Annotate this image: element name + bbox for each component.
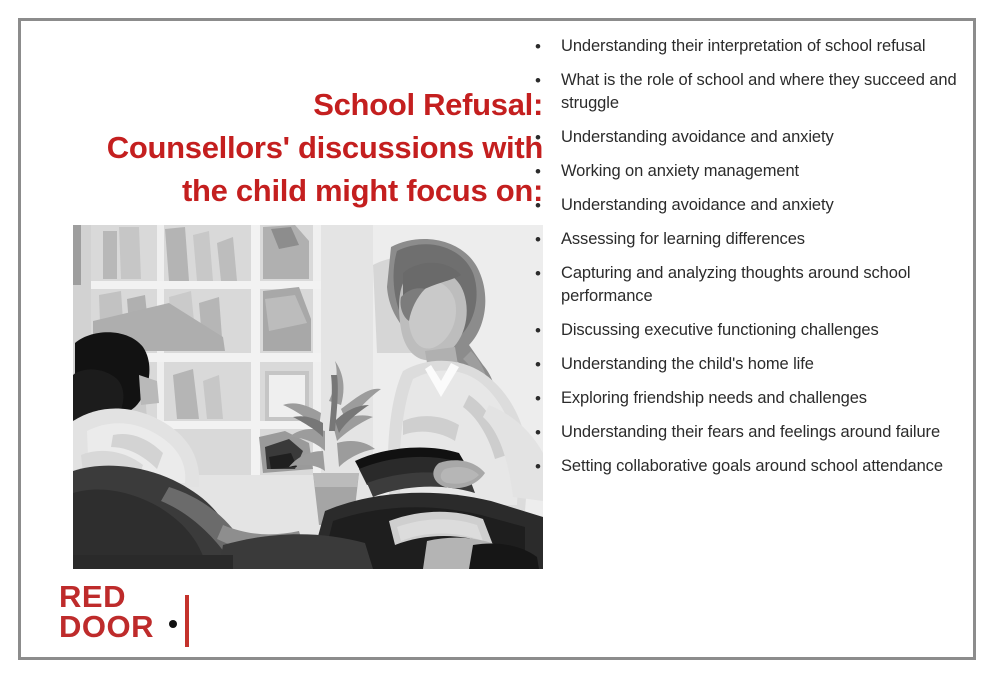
list-item: • Understanding their interpretation of … bbox=[529, 35, 969, 58]
list-item-label: Capturing and analyzing thoughts around … bbox=[561, 262, 969, 308]
list-item-label: Exploring friendship needs and challenge… bbox=[561, 387, 969, 410]
bullet-icon: • bbox=[529, 160, 561, 183]
red-door-logo: RED DOOR bbox=[59, 581, 299, 651]
bullet-icon: • bbox=[529, 228, 561, 251]
list-item: • Discussing executive functioning chall… bbox=[529, 319, 969, 342]
list-item-label: Understanding avoidance and anxiety bbox=[561, 126, 969, 149]
list-item-label: Discussing executive functioning challen… bbox=[561, 319, 969, 342]
title-line-2: Counsellors' discussions with bbox=[43, 126, 543, 169]
logo-door-bar-icon bbox=[185, 595, 189, 647]
focus-topics-list: • Understanding their interpretation of … bbox=[529, 29, 969, 657]
counselling-session-photo bbox=[73, 225, 543, 569]
bullet-icon: • bbox=[529, 421, 561, 444]
logo-dot-icon bbox=[169, 620, 177, 628]
title-line-1: School Refusal: bbox=[43, 83, 543, 126]
list-item-label: Understanding their fears and feelings a… bbox=[561, 421, 969, 444]
page-title: School Refusal: Counsellors' discussions… bbox=[43, 83, 543, 212]
list-item-label: What is the role of school and where the… bbox=[561, 69, 969, 115]
list-item: • Capturing and analyzing thoughts aroun… bbox=[529, 262, 969, 308]
list-item: • Working on anxiety management bbox=[529, 160, 969, 183]
list-item: • Understanding avoidance and anxiety bbox=[529, 194, 969, 217]
slide-root: School Refusal: Counsellors' discussions… bbox=[0, 0, 994, 684]
bullet-icon: • bbox=[529, 262, 561, 285]
list-item: • Setting collaborative goals around sch… bbox=[529, 455, 969, 478]
list-item: • Assessing for learning differences bbox=[529, 228, 969, 251]
bullet-icon: • bbox=[529, 319, 561, 342]
bullet-icon: • bbox=[529, 69, 561, 92]
logo-word-door: DOOR bbox=[59, 611, 154, 643]
bullet-icon: • bbox=[529, 353, 561, 376]
list-item: • Understanding avoidance and anxiety bbox=[529, 126, 969, 149]
slide-frame: School Refusal: Counsellors' discussions… bbox=[18, 18, 976, 660]
bullet-icon: • bbox=[529, 194, 561, 217]
list-item: • What is the role of school and where t… bbox=[529, 69, 969, 115]
list-item-label: Assessing for learning differences bbox=[561, 228, 969, 251]
bullet-icon: • bbox=[529, 126, 561, 149]
list-item-label: Setting collaborative goals around schoo… bbox=[561, 455, 969, 478]
left-column: School Refusal: Counsellors' discussions… bbox=[43, 23, 543, 659]
list-item-label: Understanding the child's home life bbox=[561, 353, 969, 376]
list-item-label: Understanding avoidance and anxiety bbox=[561, 194, 969, 217]
bullet-icon: • bbox=[529, 35, 561, 58]
list-item: • Exploring friendship needs and challen… bbox=[529, 387, 969, 410]
bullet-icon: • bbox=[529, 387, 561, 410]
counselling-session-illustration bbox=[73, 225, 543, 569]
list-item: • Understanding their fears and feelings… bbox=[529, 421, 969, 444]
list-item: • Understanding the child's home life bbox=[529, 353, 969, 376]
title-line-3: the child might focus on: bbox=[43, 169, 543, 212]
list-item-label: Working on anxiety management bbox=[561, 160, 969, 183]
bullet-icon: • bbox=[529, 455, 561, 478]
list-item-label: Understanding their interpretation of sc… bbox=[561, 35, 969, 58]
